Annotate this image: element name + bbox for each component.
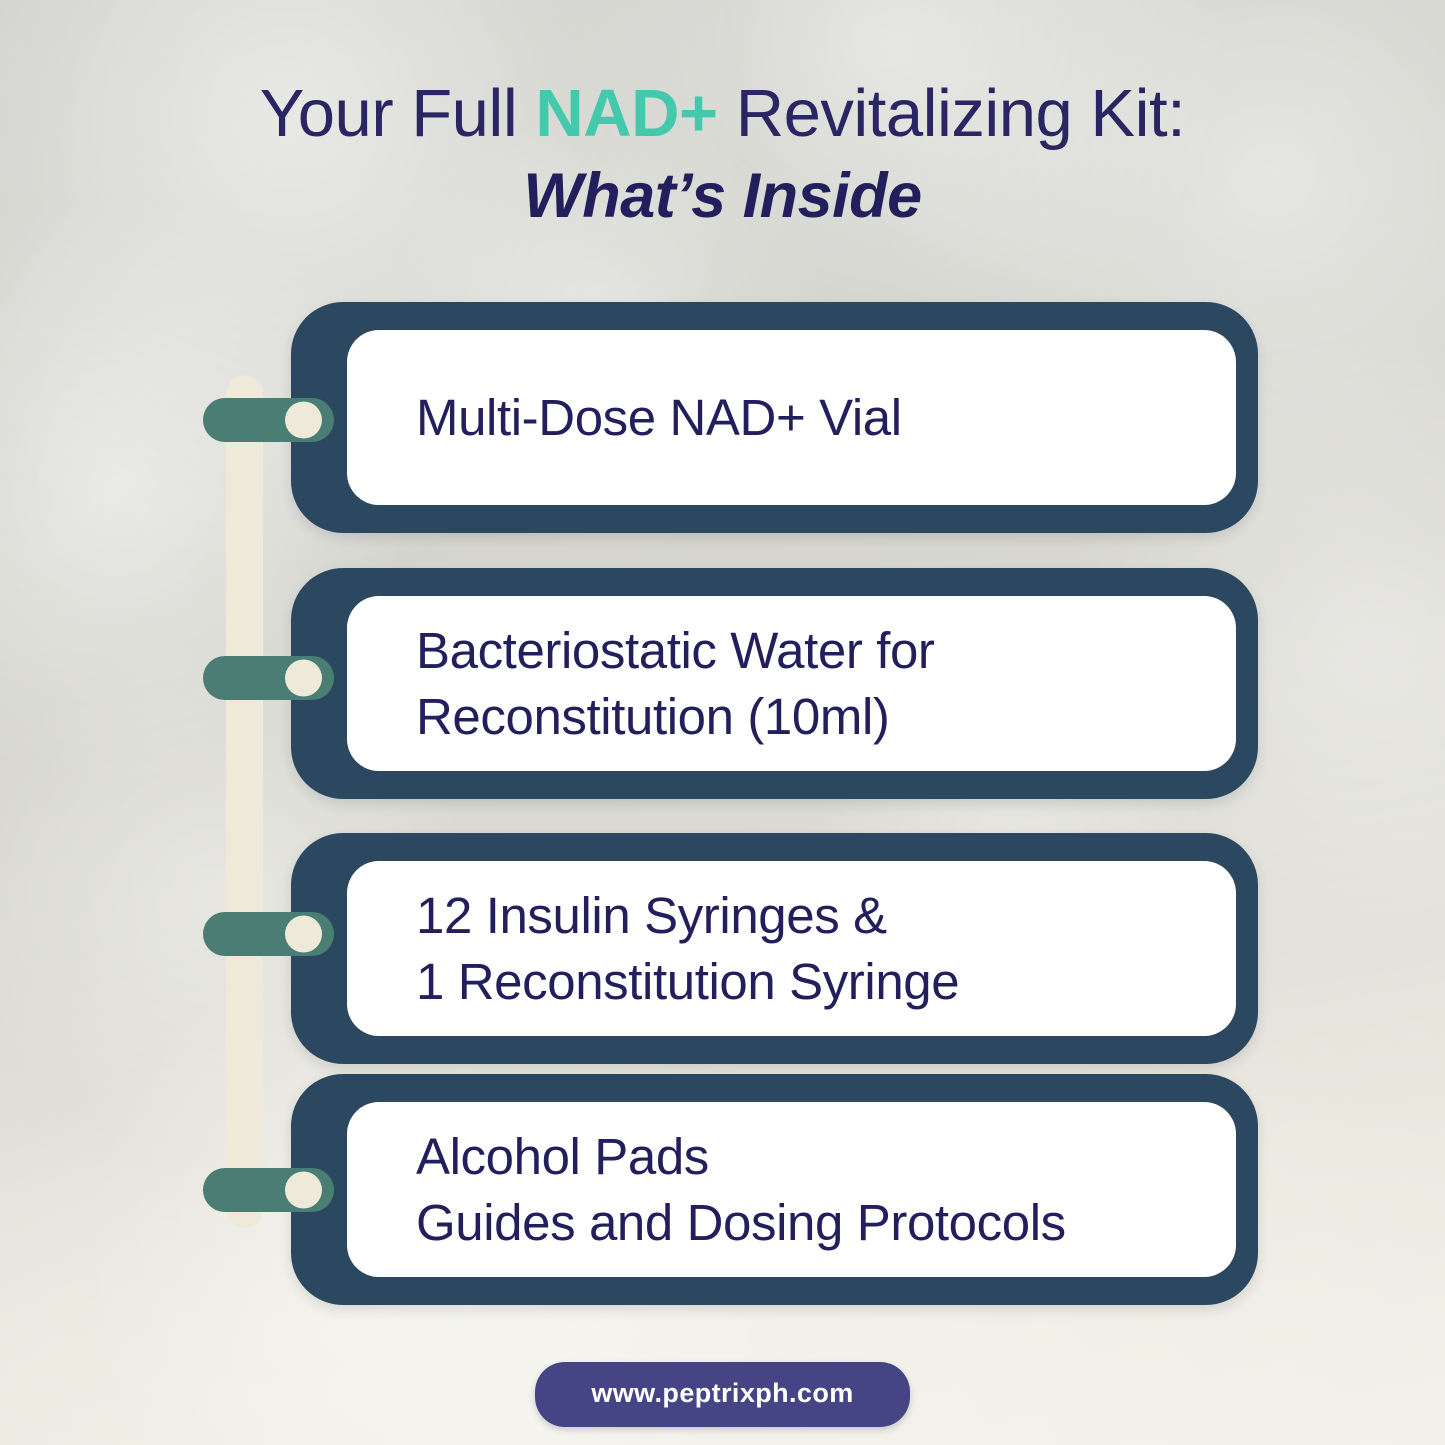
kit-item-label-4: Alcohol Pads Guides and Dosing Protocols: [347, 1124, 1096, 1255]
connector-marker-1: [203, 398, 334, 442]
page-subtitle: What’s Inside: [0, 163, 1445, 229]
header: Your Full NAD+ Revitalizing Kit: What’s …: [0, 78, 1445, 229]
kit-item-panel-4: Alcohol Pads Guides and Dosing Protocols: [347, 1102, 1236, 1277]
kit-item-panel-1: Multi-Dose NAD+ Vial: [347, 330, 1236, 505]
kit-item-card-1: Multi-Dose NAD+ Vial: [291, 302, 1258, 533]
title-accent-nad: NAD+: [535, 76, 717, 151]
kit-item-label-3: 12 Insulin Syringes & 1 Reconstitution S…: [347, 883, 989, 1014]
kit-item-panel-2: Bacteriostatic Water for Reconstitution …: [347, 596, 1236, 771]
infographic-canvas: Your Full NAD+ Revitalizing Kit: What’s …: [0, 0, 1445, 1445]
kit-item-label-2: Bacteriostatic Water for Reconstitution …: [347, 618, 965, 749]
kit-item-label-1: Multi-Dose NAD+ Vial: [347, 385, 932, 450]
website-badge[interactable]: www.peptrixph.com: [535, 1362, 909, 1427]
connector-dot-icon-1: [285, 402, 322, 439]
kit-item-panel-3: 12 Insulin Syringes & 1 Reconstitution S…: [347, 861, 1236, 1036]
connector-marker-2: [203, 656, 334, 700]
footer: www.peptrixph.com: [0, 1362, 1445, 1427]
connector-dot-icon-3: [285, 916, 322, 953]
kit-item-card-4: Alcohol Pads Guides and Dosing Protocols: [291, 1074, 1258, 1305]
connector-dot-icon-4: [285, 1172, 322, 1209]
connector-marker-3: [203, 912, 334, 956]
timeline-rail: [226, 375, 263, 1228]
connector-dot-icon-2: [285, 660, 322, 697]
kit-item-card-2: Bacteriostatic Water for Reconstitution …: [291, 568, 1258, 799]
title-prefix: Your Full: [260, 76, 536, 151]
connector-marker-4: [203, 1168, 334, 1212]
page-title: Your Full NAD+ Revitalizing Kit:: [0, 78, 1445, 149]
kit-item-card-3: 12 Insulin Syringes & 1 Reconstitution S…: [291, 833, 1258, 1064]
title-suffix: Revitalizing Kit:: [718, 76, 1186, 151]
